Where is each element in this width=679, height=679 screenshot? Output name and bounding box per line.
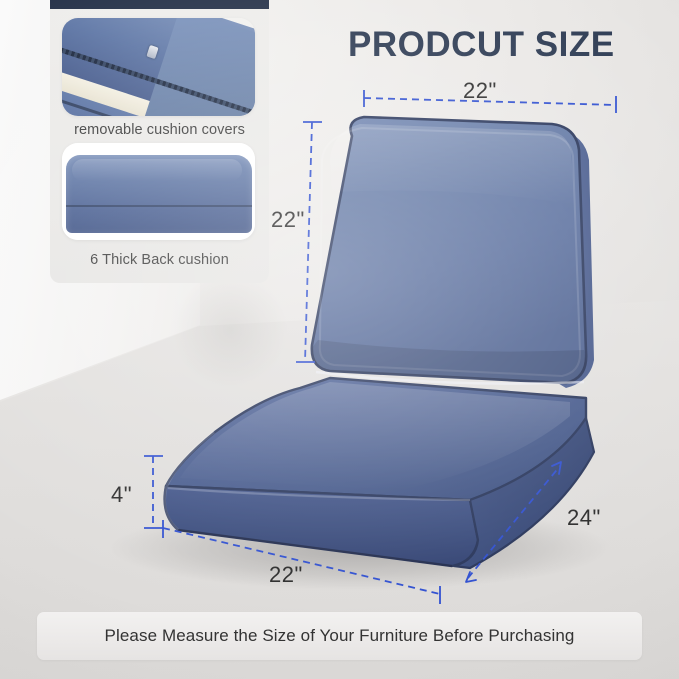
dimension-label-height: 4" (111, 482, 132, 508)
measure-notice-banner: Please Measure the Size of Your Furnitur… (37, 612, 642, 660)
product-size-infographic: removable cushion covers 6 Thick Back cu… (0, 0, 679, 679)
dimension-label-left: 22" (271, 207, 305, 233)
dimension-label-depth: 24" (567, 505, 601, 531)
dimension-left (296, 122, 322, 362)
dimension-lines (0, 0, 679, 679)
dimension-label-top: 22" (463, 78, 497, 104)
dimension-right (466, 462, 561, 582)
dimension-label-bottom: 22" (269, 562, 303, 588)
dimension-height (144, 456, 163, 528)
measure-notice-text: Please Measure the Size of Your Furnitur… (105, 626, 575, 646)
